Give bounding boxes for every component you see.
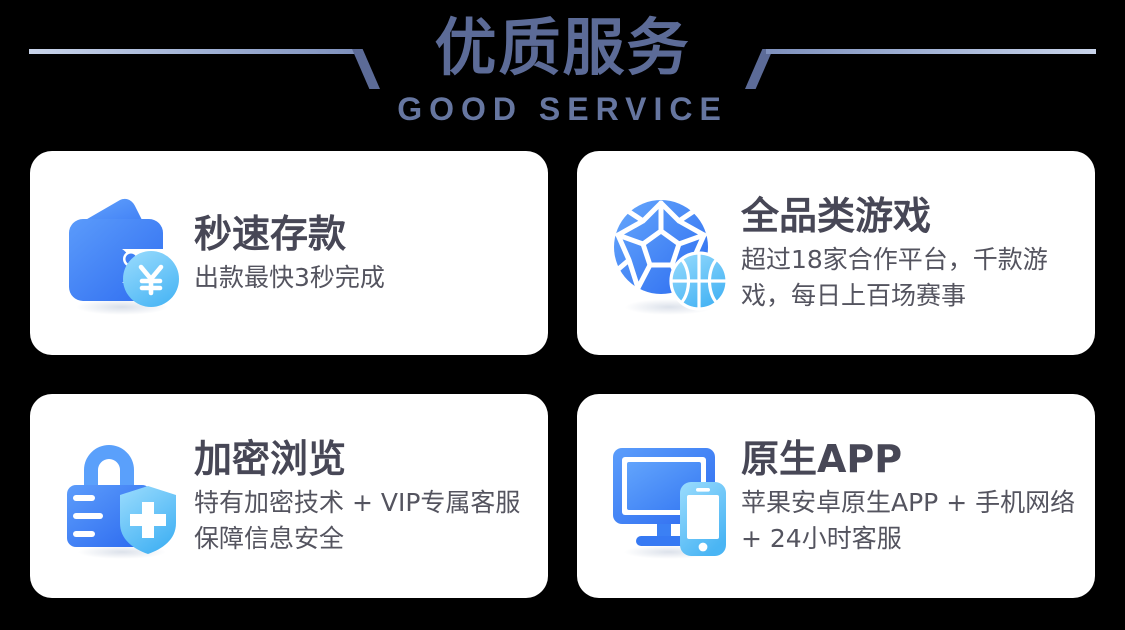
- feature-card-encryption[interactable]: 加密浏览 特有加密技术 + VIP专属客服保障信息安全: [30, 394, 548, 598]
- page-title: 优质服务: [0, 0, 1125, 90]
- feature-card-subtitle: 苹果安卓原生APP + 手机网络 + 24小时客服: [741, 485, 1081, 557]
- feature-card-title: 秒速存款: [194, 210, 534, 258]
- feature-card-subtitle: 超过18家合作平台，千款游戏，每日上百场赛事: [741, 242, 1081, 314]
- lock-shield-icon: [56, 430, 188, 562]
- feature-card-text: 秒速存款 出款最快3秒完成: [188, 210, 534, 296]
- page-header: 优质服务 GOOD SERVICE: [0, 0, 1125, 148]
- feature-card-title: 加密浏览: [194, 435, 534, 483]
- feature-card-deposit[interactable]: 秒速存款 出款最快3秒完成: [30, 151, 548, 355]
- feature-card-text: 全品类游戏 超过18家合作平台，千款游戏，每日上百场赛事: [735, 192, 1081, 314]
- feature-card-games[interactable]: 全品类游戏 超过18家合作平台，千款游戏，每日上百场赛事: [577, 151, 1095, 355]
- soccer-basketball-icon: [603, 187, 735, 319]
- feature-card-native-app[interactable]: 原生APP 苹果安卓原生APP + 手机网络 + 24小时客服: [577, 394, 1095, 598]
- feature-card-text: 加密浏览 特有加密技术 + VIP专属客服保障信息安全: [188, 435, 534, 557]
- monitor-phone-icon: [603, 430, 735, 562]
- feature-card-subtitle: 特有加密技术 + VIP专属客服保障信息安全: [194, 485, 534, 557]
- feature-card-subtitle: 出款最快3秒完成: [194, 260, 534, 296]
- feature-card-title: 原生APP: [741, 435, 1081, 483]
- feature-card-text: 原生APP 苹果安卓原生APP + 手机网络 + 24小时客服: [735, 435, 1081, 557]
- feature-card-grid: 秒速存款 出款最快3秒完成: [30, 151, 1095, 598]
- header-title-block: 优质服务 GOOD SERVICE: [0, 0, 1125, 128]
- page-subtitle: GOOD SERVICE: [0, 90, 1125, 128]
- feature-card-title: 全品类游戏: [741, 192, 1081, 240]
- wallet-yen-icon: [56, 187, 188, 319]
